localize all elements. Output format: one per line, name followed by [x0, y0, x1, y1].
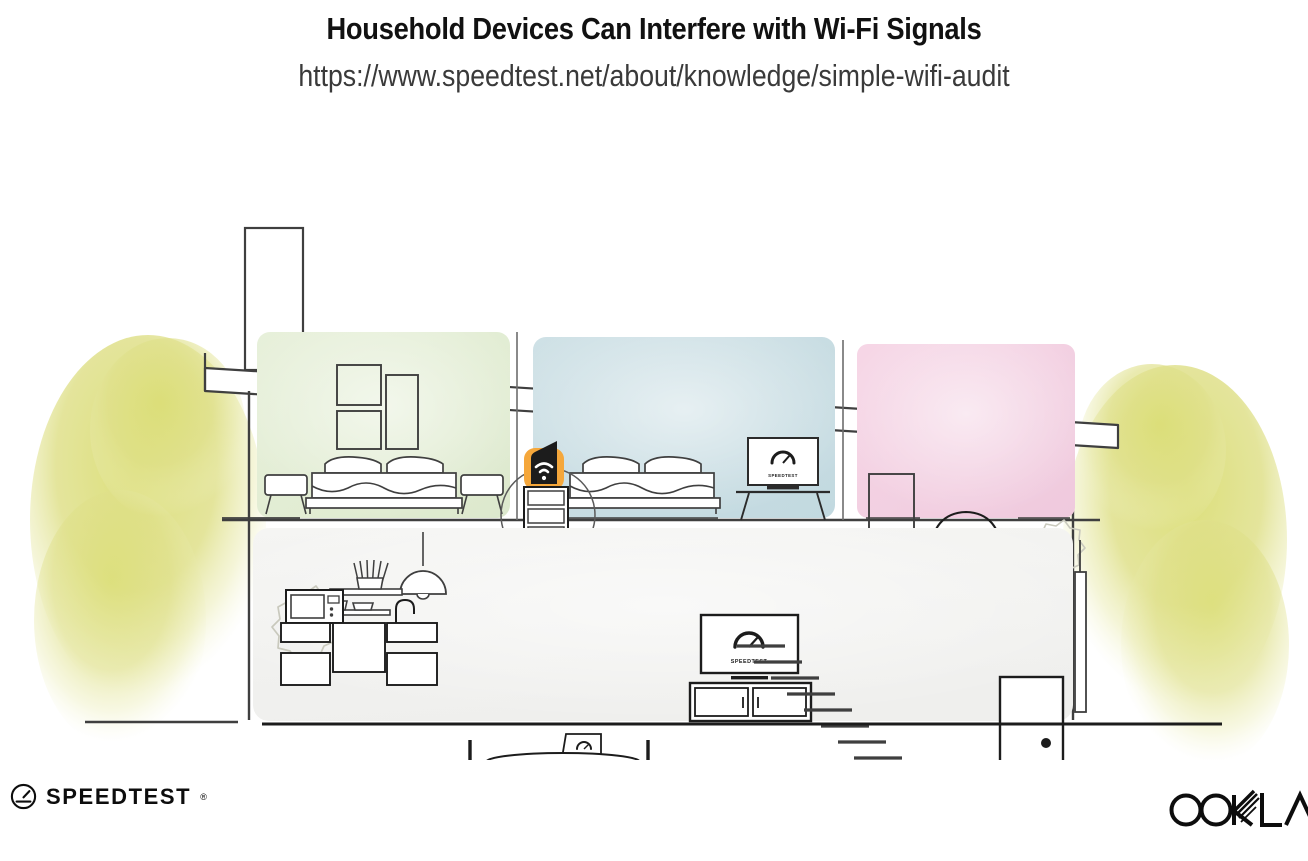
source-url: https://www.speedtest.net/about/knowledg… [92, 47, 1217, 94]
speedometer-icon [10, 783, 37, 810]
room-bedroom-middle: SPEEDTEST [533, 337, 843, 520]
ookla-wordmark-svg [1164, 785, 1308, 831]
living-room: SPEEDTEST [690, 615, 811, 721]
desktop-monitor: SPEEDTEST [748, 438, 818, 485]
speedtest-wordmark: SPEEDTEST [46, 784, 191, 810]
speedtest-trademark: ® [200, 792, 207, 802]
room-bedroom-left [222, 332, 517, 520]
dining-set [470, 734, 648, 760]
speedtest-logo[interactable]: SPEEDTEST ® [10, 783, 207, 810]
ookla-k-glyph [1234, 791, 1259, 825]
media-console [690, 683, 811, 721]
tv[interactable]: SPEEDTEST [701, 615, 798, 673]
house-cutaway-svg: SPEEDTEST [0, 100, 1308, 760]
header: Household Devices Can Interfere with Wi-… [0, 0, 1308, 94]
foliage-left [30, 335, 266, 750]
house-illustration: SPEEDTEST [0, 100, 1308, 760]
ookla-logo[interactable] [1164, 785, 1308, 836]
monitor-screen-label: SPEEDTEST [768, 473, 798, 478]
poster-page: Household Devices Can Interfere with Wi-… [0, 0, 1308, 861]
footer: SPEEDTEST ® [0, 761, 1308, 861]
entry-door[interactable] [1000, 677, 1063, 760]
page-title: Household Devices Can Interfere with Wi-… [78, 0, 1229, 47]
